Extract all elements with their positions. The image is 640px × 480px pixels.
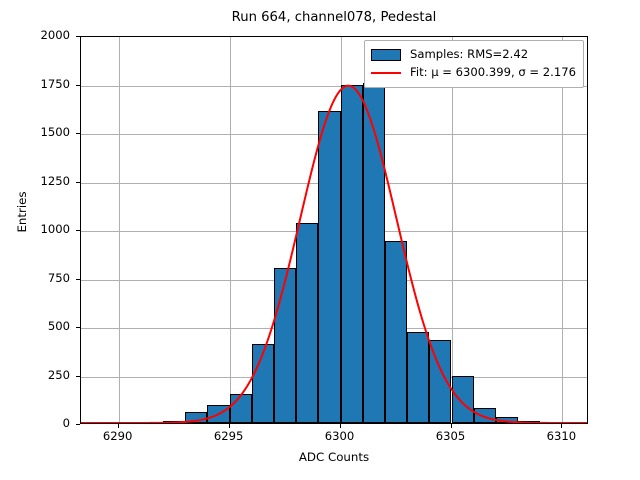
- legend: Samples: RMS=2.42 Fit: μ = 6300.399, σ =…: [364, 40, 584, 88]
- x-axis-tick-label: 6305: [411, 429, 491, 443]
- legend-label-fit: Fit: μ = 6300.399, σ = 2.176: [410, 64, 576, 82]
- y-axis-tick-label: 500: [0, 319, 70, 333]
- plot-area: Samples: RMS=2.42 Fit: μ = 6300.399, σ =…: [80, 36, 588, 424]
- y-axis-tick-label: 250: [0, 368, 70, 382]
- y-axis-tick-label: 2000: [0, 28, 70, 42]
- x-axis-tick-mark: [118, 424, 119, 428]
- y-axis-tick-label: 0: [0, 416, 70, 430]
- x-axis-tick-mark: [340, 424, 341, 428]
- legend-entry-fit: Fit: μ = 6300.399, σ = 2.176: [371, 64, 576, 82]
- fit-curve-svg: [81, 37, 587, 423]
- y-axis-tick-mark: [76, 424, 80, 425]
- x-axis-tick-label: 6295: [189, 429, 269, 443]
- y-axis-tick-label: 1500: [0, 125, 70, 139]
- fit-curve-path: [81, 86, 587, 423]
- legend-bar-patch-icon: [371, 49, 401, 61]
- legend-line-swatch-icon: [371, 66, 401, 79]
- y-axis-tick-label: 1000: [0, 222, 70, 236]
- gaussian-fit-curve: [81, 37, 587, 423]
- y-axis-title: Entries: [15, 152, 29, 272]
- histogram-figure: Run 664, channel078, Pedestal Entries AD…: [0, 0, 640, 480]
- legend-entry-samples: Samples: RMS=2.42: [371, 46, 576, 64]
- x-axis-tick-mark: [561, 424, 562, 428]
- x-axis-tick-label: 6290: [78, 429, 158, 443]
- y-axis-tick-label: 750: [0, 271, 70, 285]
- x-axis-tick-label: 6300: [300, 429, 380, 443]
- y-axis-tick-label: 1250: [0, 174, 70, 188]
- x-axis-tick-mark: [229, 424, 230, 428]
- y-axis-tick-label: 1750: [0, 77, 70, 91]
- x-axis-tick-label: 6310: [521, 429, 601, 443]
- x-axis-title: ADC Counts: [80, 450, 588, 464]
- legend-label-samples: Samples: RMS=2.42: [410, 46, 528, 64]
- chart-title: Run 664, channel078, Pedestal: [80, 10, 588, 25]
- x-axis-tick-mark: [451, 424, 452, 428]
